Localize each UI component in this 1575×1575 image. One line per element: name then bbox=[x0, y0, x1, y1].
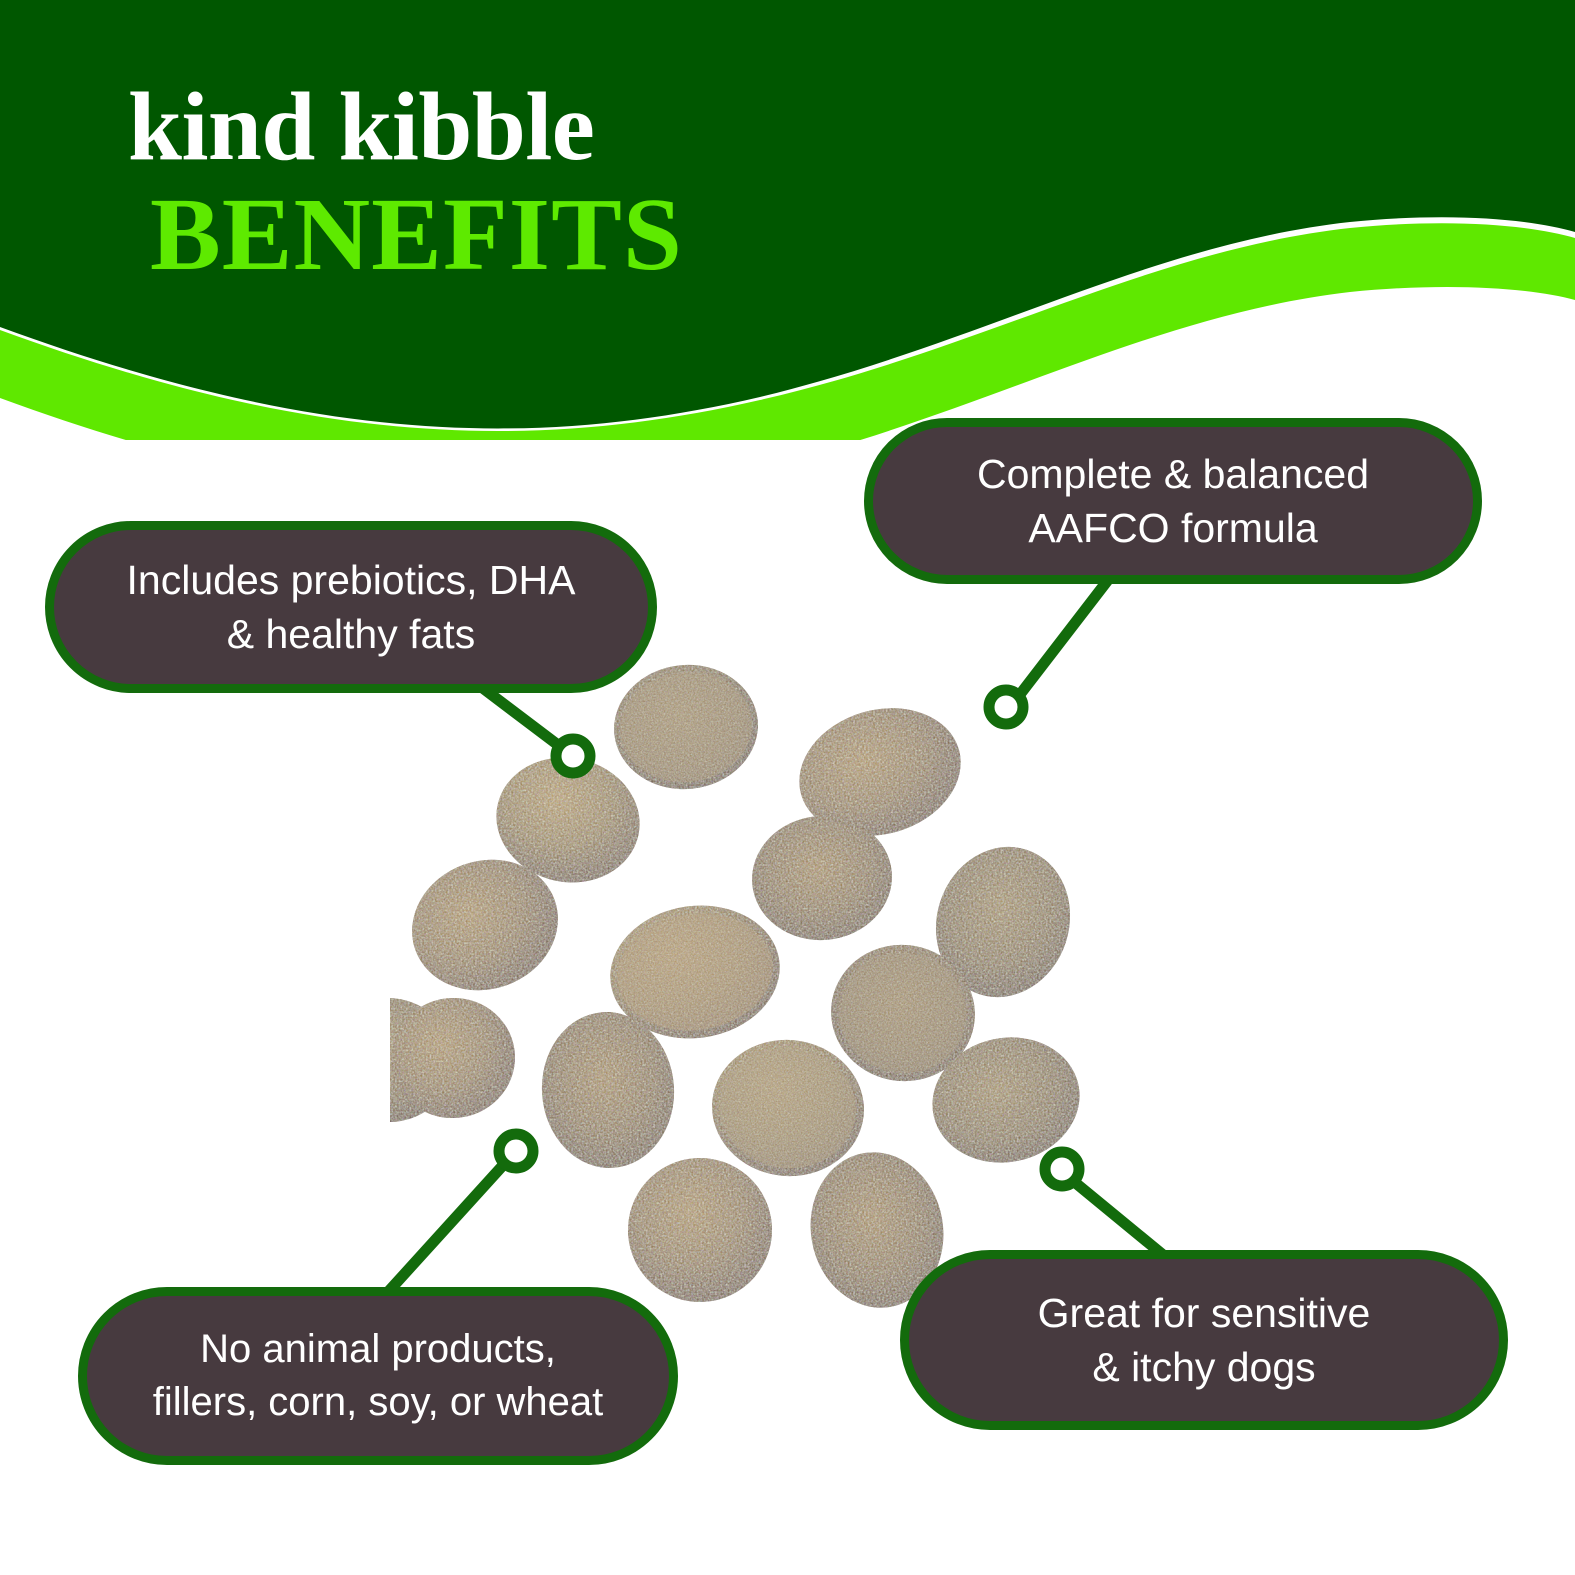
callout-prebiotics-line2: & healthy fats bbox=[227, 611, 475, 657]
callout-sensitive-dogs[interactable]: Great for sensitive & itchy dogs bbox=[900, 1250, 1508, 1430]
callout-prebiotics-line1: Includes prebiotics, DHA bbox=[127, 557, 576, 603]
kibble-cluster-photo bbox=[390, 630, 1100, 1320]
callout-no-animal-products[interactable]: No animal products, fillers, corn, soy, … bbox=[78, 1287, 678, 1465]
callout-aafco-line1: Complete & balanced bbox=[977, 451, 1369, 497]
callout-sensitive-line2: & itchy dogs bbox=[1092, 1344, 1315, 1390]
title-kind-kibble: kind kibble bbox=[128, 78, 1028, 177]
header-band: kind kibble BENEFITS bbox=[0, 0, 1575, 440]
callout-prebiotics[interactable]: Includes prebiotics, DHA & healthy fats bbox=[45, 521, 657, 693]
page-title: kind kibble BENEFITS bbox=[128, 78, 1028, 287]
callout-aafco-line2: AAFCO formula bbox=[1028, 505, 1317, 551]
callout-sensitive-line1: Great for sensitive bbox=[1038, 1290, 1371, 1336]
callout-no-animal-line1: No animal products, bbox=[200, 1327, 556, 1371]
kibble-pieces-graphic bbox=[390, 630, 1100, 1320]
kibble-piece bbox=[619, 1149, 782, 1312]
callout-aafco[interactable]: Complete & balanced AAFCO formula bbox=[864, 418, 1482, 584]
callout-no-animal-line2: fillers, corn, soy, or wheat bbox=[153, 1380, 604, 1424]
title-benefits: BENEFITS bbox=[150, 183, 1046, 287]
infographic-canvas: kind kibble BENEFITS bbox=[0, 0, 1575, 1575]
